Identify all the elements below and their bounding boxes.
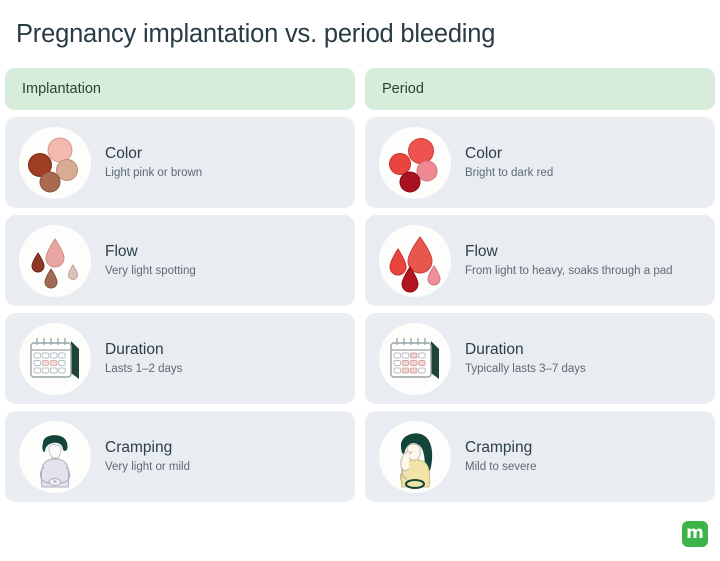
card-title: Duration <box>105 340 182 359</box>
card-subtitle: Typically lasts 3–7 days <box>465 362 586 377</box>
card-implantation-duration[interactable]: Duration Lasts 1–2 days <box>5 313 355 404</box>
color-swatches-icon <box>379 127 451 199</box>
card-implantation-color[interactable]: Color Light pink or brown <box>5 117 355 208</box>
page-title: Pregnancy implantation vs. period bleedi… <box>16 20 495 49</box>
card-period-flow[interactable]: Flow From light to heavy, soaks through … <box>365 215 715 306</box>
card-period-duration[interactable]: Duration Typically lasts 3–7 days <box>365 313 715 404</box>
card-title: Cramping <box>105 438 190 457</box>
color-swatches-icon <box>19 127 91 199</box>
comparison-columns: Implantation Color Light pink or brown <box>5 68 715 502</box>
card-text: Duration Typically lasts 3–7 days <box>465 340 586 376</box>
column-header-label: Period <box>382 81 424 97</box>
card-subtitle: Lasts 1–2 days <box>105 362 182 377</box>
column-period: Period Color Bright to dark red <box>365 68 715 502</box>
card-title: Color <box>465 144 553 163</box>
blood-drops-icon <box>379 225 451 297</box>
card-title: Flow <box>105 242 196 261</box>
card-text: Flow From light to heavy, soaks through … <box>465 242 673 278</box>
blood-drops-icon <box>19 225 91 297</box>
card-text: Cramping Mild to severe <box>465 438 537 474</box>
column-implantation: Implantation Color Light pink or brown <box>5 68 355 502</box>
card-subtitle: From light to heavy, soaks through a pad <box>465 264 673 279</box>
card-title: Flow <box>465 242 673 261</box>
card-title: Color <box>105 144 202 163</box>
infographic-page: Pregnancy implantation vs. period bleedi… <box>0 0 720 561</box>
card-subtitle: Light pink or brown <box>105 166 202 181</box>
logo-mark: m <box>686 525 704 542</box>
card-text: Color Light pink or brown <box>105 144 202 180</box>
card-text: Color Bright to dark red <box>465 144 553 180</box>
card-subtitle: Mild to severe <box>465 460 537 475</box>
flo-logo[interactable]: m <box>682 521 708 547</box>
card-title: Duration <box>465 340 586 359</box>
column-header-label: Implantation <box>22 81 101 97</box>
card-period-cramping[interactable]: Cramping Mild to severe <box>365 411 715 502</box>
person-mild-cramping-icon <box>19 421 91 493</box>
card-subtitle: Bright to dark red <box>465 166 553 181</box>
card-implantation-cramping[interactable]: Cramping Very light or mild <box>5 411 355 502</box>
card-text: Flow Very light spotting <box>105 242 196 278</box>
card-title: Cramping <box>465 438 537 457</box>
person-severe-cramping-icon <box>379 421 451 493</box>
card-text: Cramping Very light or mild <box>105 438 190 474</box>
card-subtitle: Very light or mild <box>105 460 190 475</box>
card-implantation-flow[interactable]: Flow Very light spotting <box>5 215 355 306</box>
calendar-icon <box>19 323 91 395</box>
card-period-color[interactable]: Color Bright to dark red <box>365 117 715 208</box>
column-header-implantation: Implantation <box>5 68 355 110</box>
calendar-icon <box>379 323 451 395</box>
card-subtitle: Very light spotting <box>105 264 196 279</box>
card-text: Duration Lasts 1–2 days <box>105 340 182 376</box>
column-header-period: Period <box>365 68 715 110</box>
